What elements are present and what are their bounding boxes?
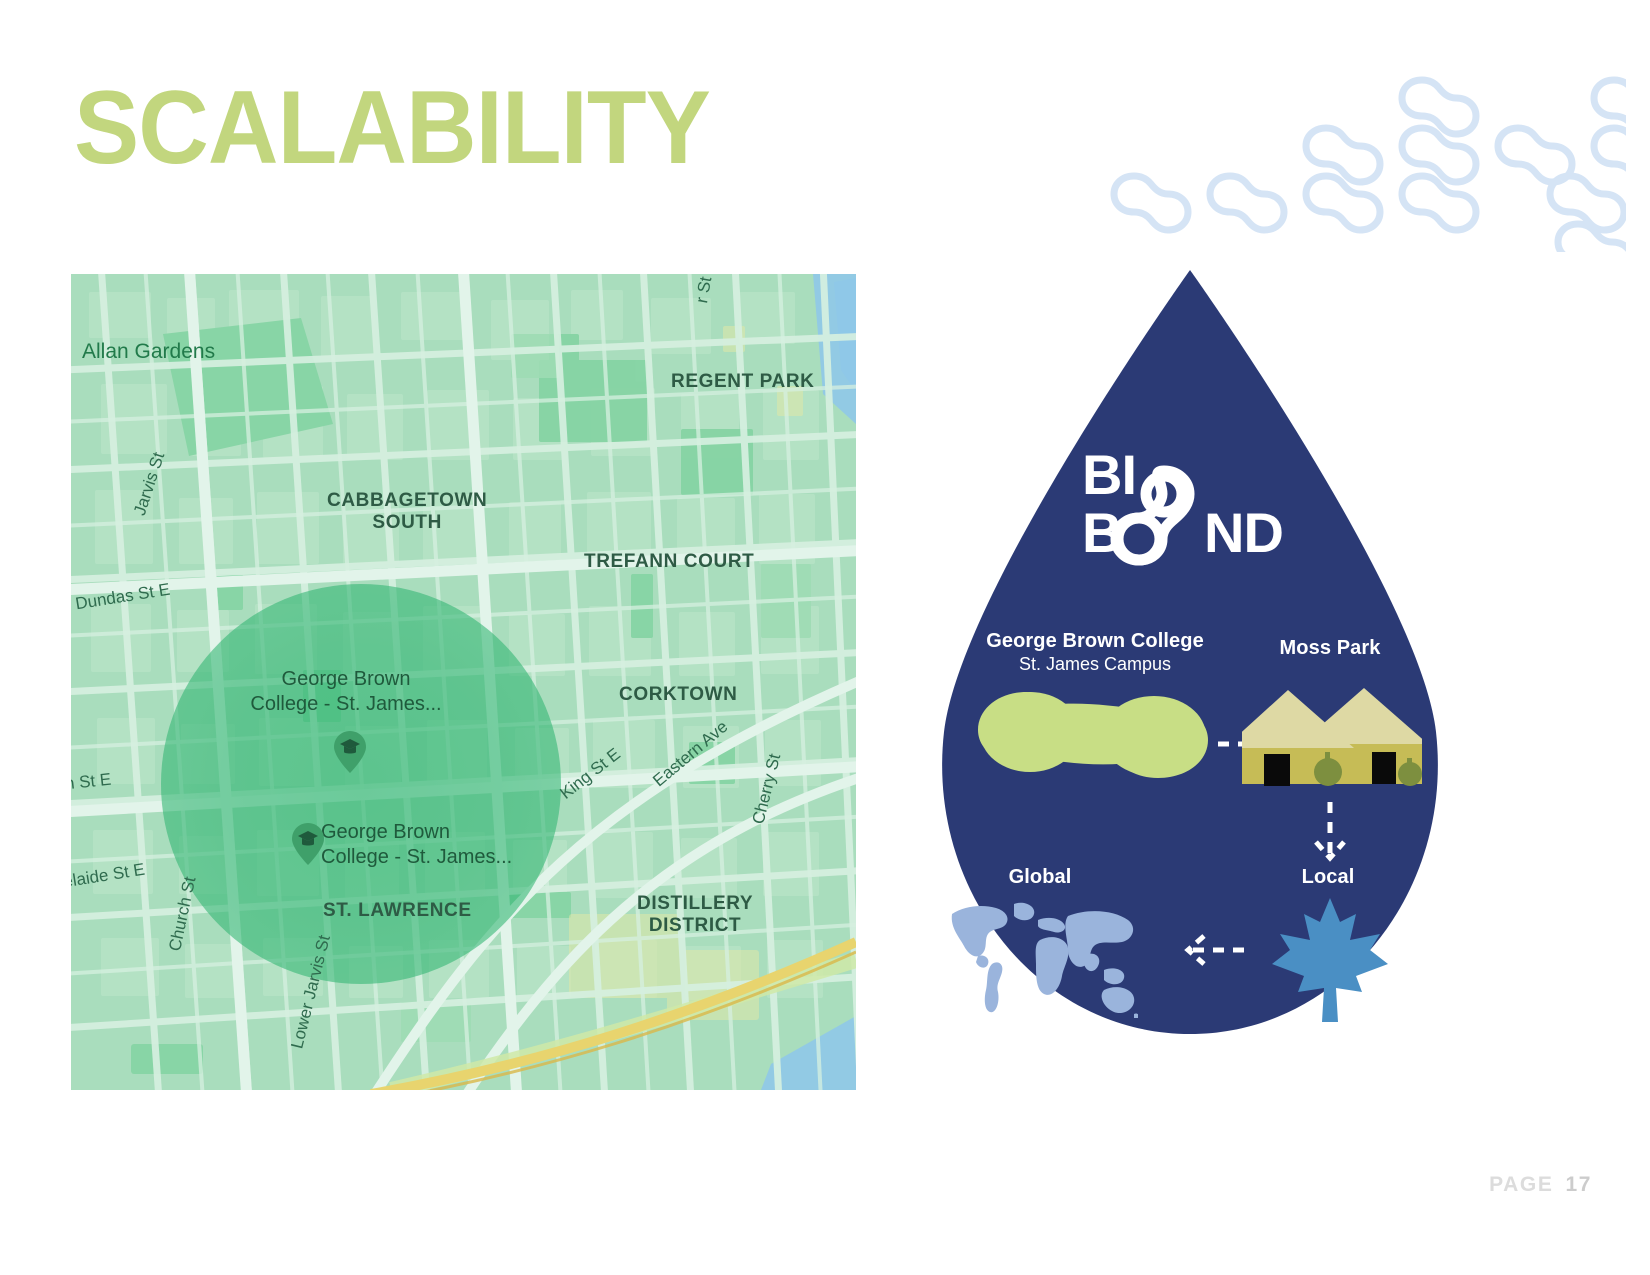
- svg-text:BI: BI: [1082, 447, 1136, 506]
- scalability-map[interactable]: REGENT PARK CABBAGETOWNSOUTH TREFANN COU…: [71, 274, 856, 1090]
- maple-leaf-icon: [1270, 896, 1390, 1029]
- node-title-local: Local: [1218, 866, 1438, 889]
- page-title: SCALABILITY: [74, 76, 710, 180]
- node-label-global: Global: [930, 866, 1150, 889]
- page-number: 17: [1565, 1173, 1592, 1196]
- node-label-local: Local: [1218, 866, 1438, 889]
- node-label-moss-park: Moss Park: [1200, 637, 1460, 660]
- node-title-moss-park: Moss Park: [1200, 637, 1460, 660]
- svg-text:ND: ND: [1204, 501, 1283, 564]
- peanut-pattern-decoration: [1046, 62, 1626, 252]
- node-title-global: Global: [930, 866, 1150, 889]
- world-map-icon: [948, 898, 1138, 1023]
- bio-bond-logo: BI B ND: [1080, 447, 1320, 567]
- map-pin-george-brown-1[interactable]: [333, 730, 367, 779]
- peanut-shape-icon: [978, 690, 1208, 785]
- page-label: PAGE: [1489, 1173, 1553, 1196]
- arrow-local-to-global-icon: [1168, 930, 1246, 975]
- houses-icon: [1242, 666, 1422, 791]
- bio-bond-droplet-diagram: BI B ND George Brown College St. James C…: [900, 262, 1500, 1102]
- map-pin-george-brown-2[interactable]: [291, 822, 325, 871]
- page-footer: PAGE17: [1489, 1173, 1592, 1197]
